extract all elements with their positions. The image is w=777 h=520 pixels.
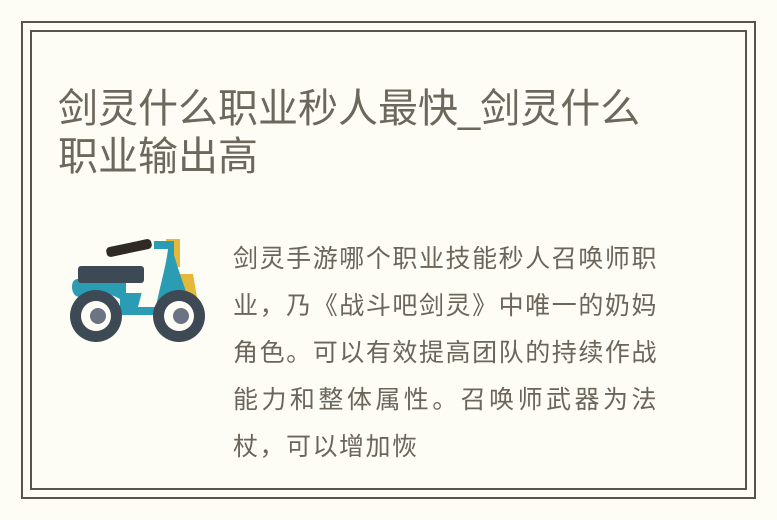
scooter-handlebar	[105, 238, 152, 257]
scooter-icon	[62, 219, 212, 354]
scooter-front-wheel	[153, 290, 205, 342]
article-card: 剑灵什么职业秒人最快_剑灵什么职业输出高	[0, 0, 777, 520]
article-content: 剑灵手游哪个职业技能秒人召唤师职业，乃《战斗吧剑灵》中唯一的奶妈角色。可以有效提…	[58, 205, 718, 465]
article-body-text: 剑灵手游哪个职业技能秒人召唤师职业，乃《战斗吧剑灵》中唯一的奶妈角色。可以有效提…	[233, 236, 658, 488]
scooter-seat	[78, 266, 144, 283]
scooter-rear-wheel	[70, 290, 122, 342]
page-title: 剑灵什么职业秒人最快_剑灵什么职业输出高	[58, 85, 678, 181]
